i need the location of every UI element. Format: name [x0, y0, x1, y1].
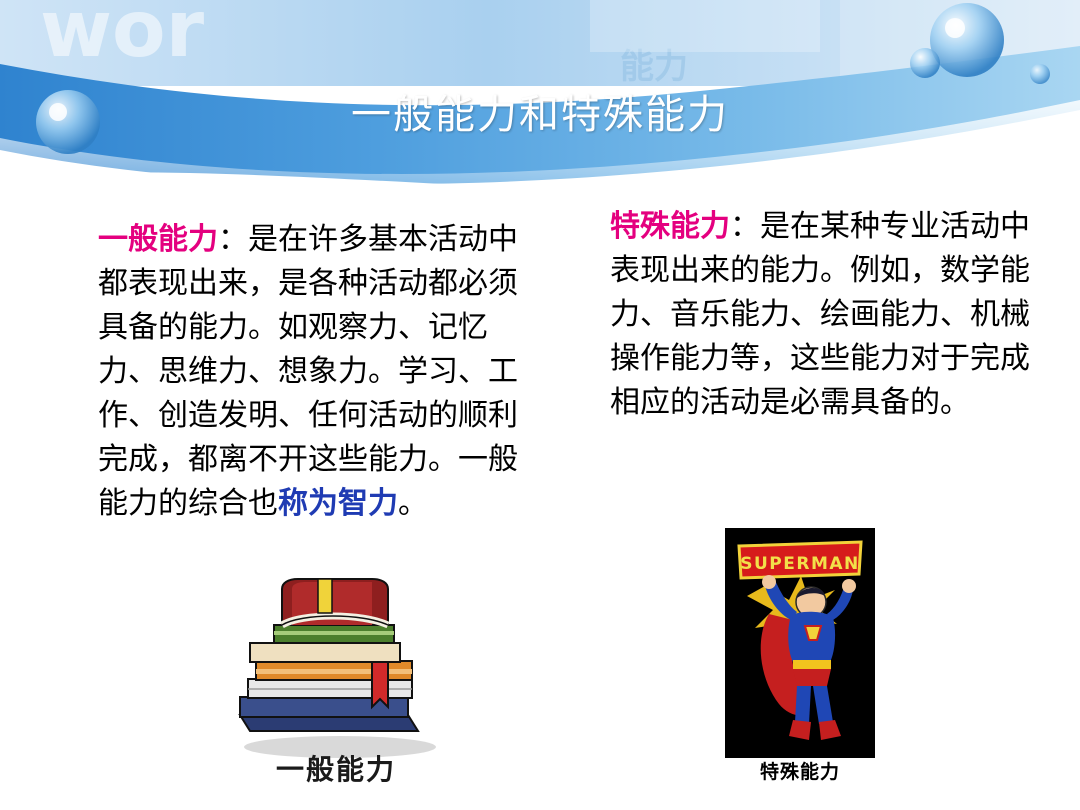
left-keyword-intelligence: 称为智力 — [278, 486, 398, 521]
svg-text:wor: wor — [40, 0, 205, 75]
superman-illustration: SUPERMAN — [725, 528, 875, 758]
superman-icon: SUPERMAN — [725, 528, 875, 758]
left-body-text-part1: 是在许多基本活动中都表现出来，是各种活动都必须具备的能力。如观察力、记忆力、思维… — [98, 222, 518, 521]
left-body-text-part2: 。 — [398, 486, 428, 521]
superman-caption: 特殊能力 — [725, 757, 875, 784]
svg-text:能力: 能力 — [620, 47, 688, 87]
page-title: 一般能力和特殊能力 — [0, 90, 1080, 140]
right-keyword: 特殊能力 — [610, 209, 730, 244]
presentation-slide: wor 能力 一般能力和特殊能力 一般能力：是在许多基本活动中都表现出来，是各种… — [0, 0, 1080, 810]
stack-of-books-icon — [222, 565, 452, 765]
superman-wordmark: SUPERMAN — [740, 554, 860, 574]
right-text-block: 特殊能力：是在某种专业活动中表现出来的能力。例如，数学能力、音乐能力、绘画能力、… — [610, 205, 1040, 425]
left-keyword: 一般能力 — [98, 222, 218, 257]
right-colon: ： — [730, 209, 760, 244]
books-caption: 一般能力 — [236, 748, 436, 788]
left-colon: ： — [218, 222, 248, 257]
left-text-block: 一般能力：是在许多基本活动中都表现出来，是各种活动都必须具备的能力。如观察力、记… — [98, 218, 518, 526]
